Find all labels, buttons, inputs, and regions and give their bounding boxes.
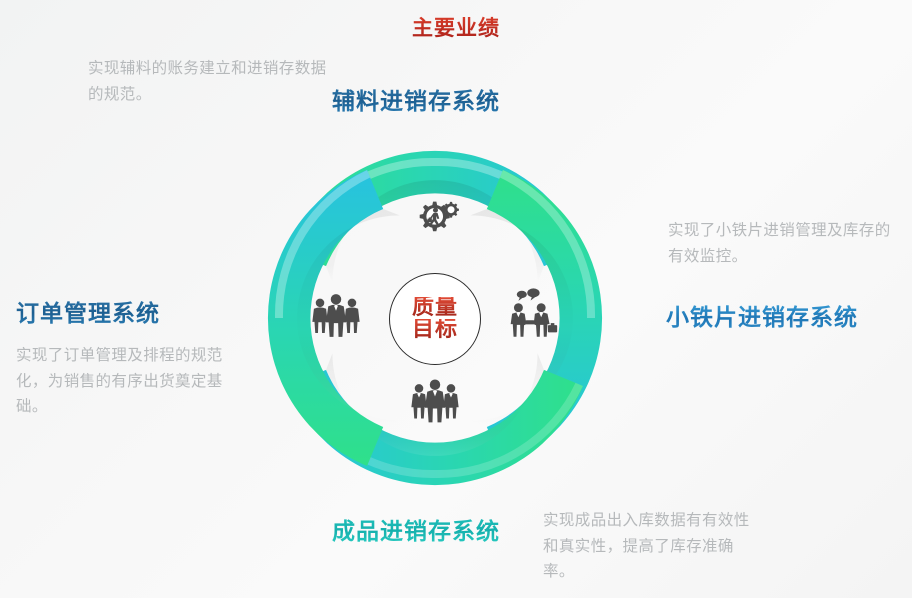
section-description-top: 实现辅料的账务建立和进销存数据的规范。	[88, 56, 328, 107]
section-description-bottom: 实现成品出入库数据有有效性和真实性，提高了库存准确率。	[543, 508, 761, 585]
worker-in-gear-icon	[404, 190, 466, 252]
section-title-right[interactable]: 小铁片进销存系统	[666, 298, 858, 332]
center-goal-line2: 目标	[412, 319, 458, 341]
business-handshake-icon	[500, 283, 562, 345]
infographic-canvas: 主要业绩	[0, 0, 912, 598]
section-title-top[interactable]: 辅料进销存系统	[332, 82, 500, 116]
center-goal-line1: 质量	[412, 297, 458, 319]
section-description-left: 实现了订单管理及排程的规范化，为销售的有序出货奠定基础。	[16, 343, 228, 420]
page-title: 主要业绩	[0, 12, 912, 42]
team-group-icon	[305, 285, 367, 347]
center-goal-circle: 质量 目标	[389, 273, 481, 365]
section-title-left[interactable]: 订单管理系统	[16, 294, 160, 328]
section-description-right: 实现了小铁片进销管理及库存的有效监控。	[668, 218, 900, 269]
team-trio-icon	[404, 370, 466, 432]
section-title-bottom[interactable]: 成品进销存系统	[332, 512, 500, 546]
